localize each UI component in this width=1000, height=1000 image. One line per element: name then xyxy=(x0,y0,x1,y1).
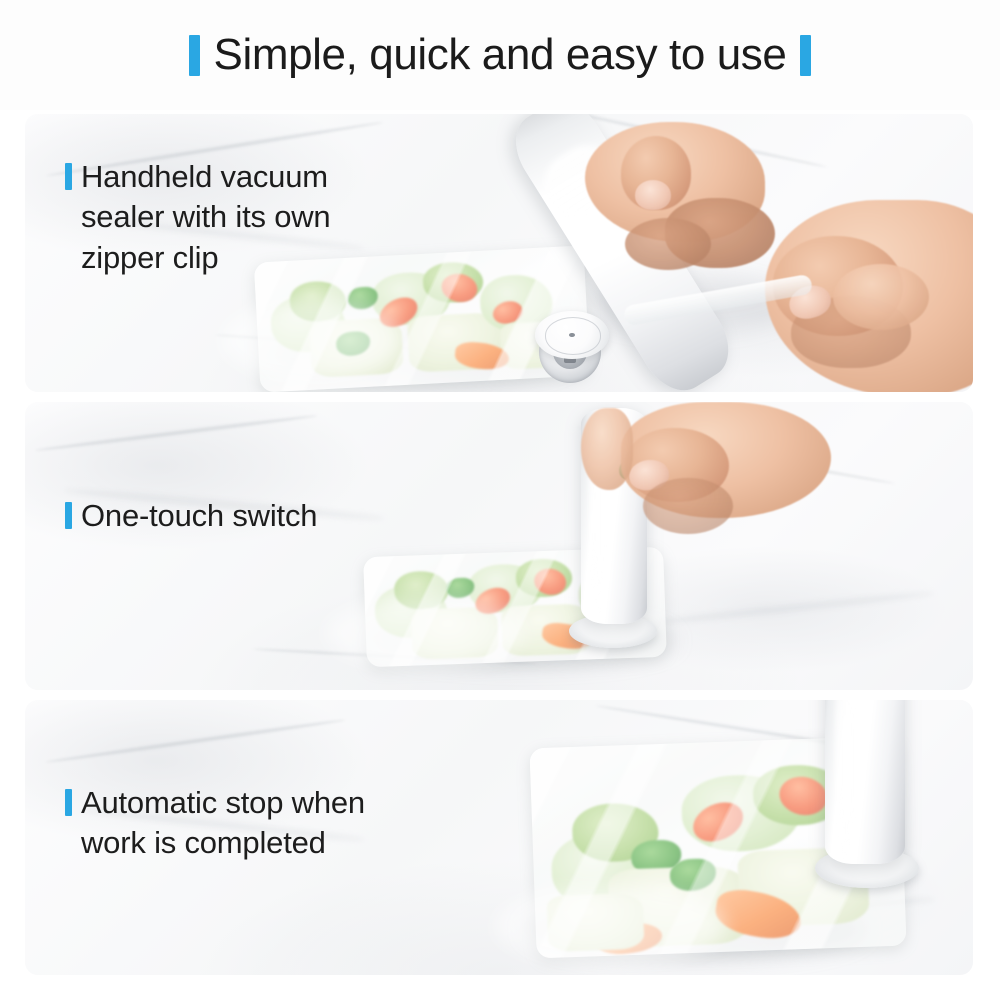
panel-1-text-block: Handheld vacuum sealer with its own zipp… xyxy=(65,157,330,278)
feature-panel-automatic-stop: Automatic stop when work is completed xyxy=(25,700,973,975)
handheld-vacuum-sealer xyxy=(825,700,905,864)
feature-panel-one-touch-switch: One-touch switch xyxy=(25,402,973,690)
bullet-bar-icon xyxy=(65,502,72,529)
bag-valve-icon xyxy=(535,311,609,359)
panel-3-text-block: Automatic stop when work is completed xyxy=(65,783,365,864)
panel-2-photo xyxy=(25,402,973,690)
panel-1-feature-text: Handheld vacuum sealer with its own zipp… xyxy=(81,157,330,278)
panel-2-text-block: One-touch switch xyxy=(65,496,317,536)
page-title: Simple, quick and easy to use xyxy=(214,33,787,77)
panel-3-feature-text: Automatic stop when work is completed xyxy=(81,783,365,864)
feature-panel-handheld-sealer: Handheld vacuum sealer with its own zipp… xyxy=(25,114,973,392)
panel-2-feature-text: One-touch switch xyxy=(81,496,317,536)
page-header: Simple, quick and easy to use xyxy=(0,0,1000,110)
title-wrap: Simple, quick and easy to use xyxy=(189,33,812,77)
bullet-bar-icon xyxy=(65,789,72,816)
accent-bar-right-icon xyxy=(800,35,811,76)
accent-bar-left-icon xyxy=(189,35,200,76)
bullet-bar-icon xyxy=(65,163,72,190)
